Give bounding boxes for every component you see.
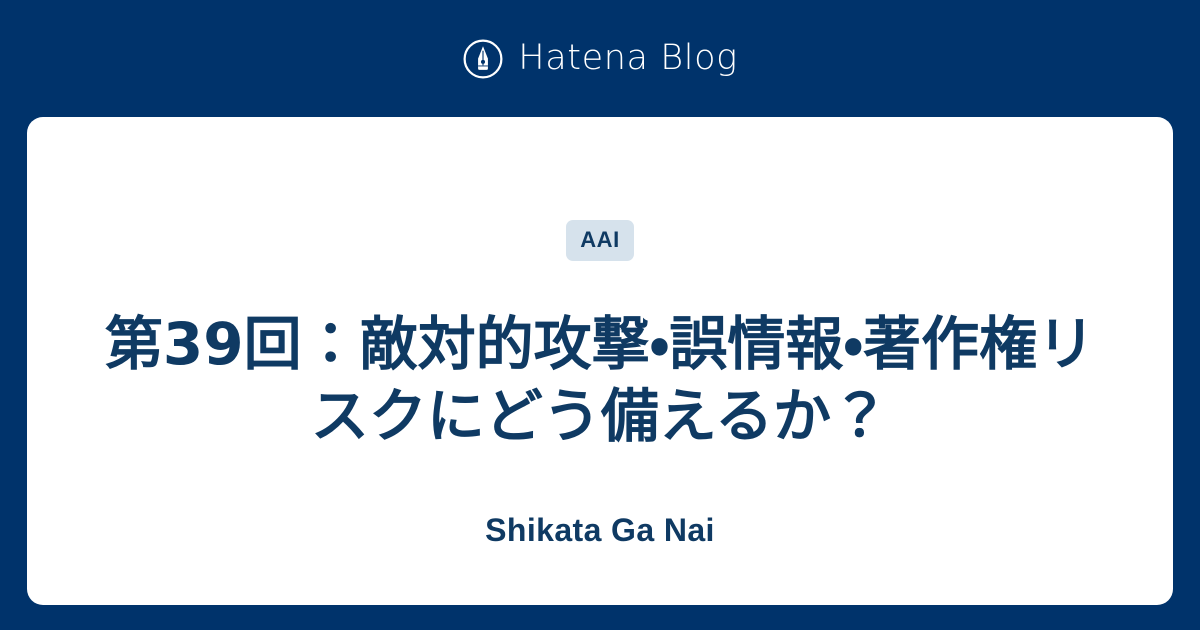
category-badge[interactable]: AAI <box>566 220 633 261</box>
hatena-blog-brand-bar: Hatena Blog <box>0 0 1200 117</box>
hatena-blog-brand-name: Hatena Blog <box>518 41 737 76</box>
blog-name: Shikata Ga Nai <box>27 510 1173 550</box>
category-badge-row: AAI <box>27 220 1173 261</box>
hatena-pen-nib-icon <box>462 38 504 80</box>
entry-title: 第39回：敵対的攻撃・誤情報・著作権リスクにどう備えるか？ <box>27 308 1173 452</box>
entry-card-inner: AAI 第39回：敵対的攻撃・誤情報・著作権リスクにどう備えるか？ Shikat… <box>27 117 1173 605</box>
ogp-card-root: Hatena Blog AAI 第39回：敵対的攻撃・誤情報・著作権リスクにどう… <box>0 0 1200 630</box>
entry-card: AAI 第39回：敵対的攻撃・誤情報・著作権リスクにどう備えるか？ Shikat… <box>27 117 1173 605</box>
